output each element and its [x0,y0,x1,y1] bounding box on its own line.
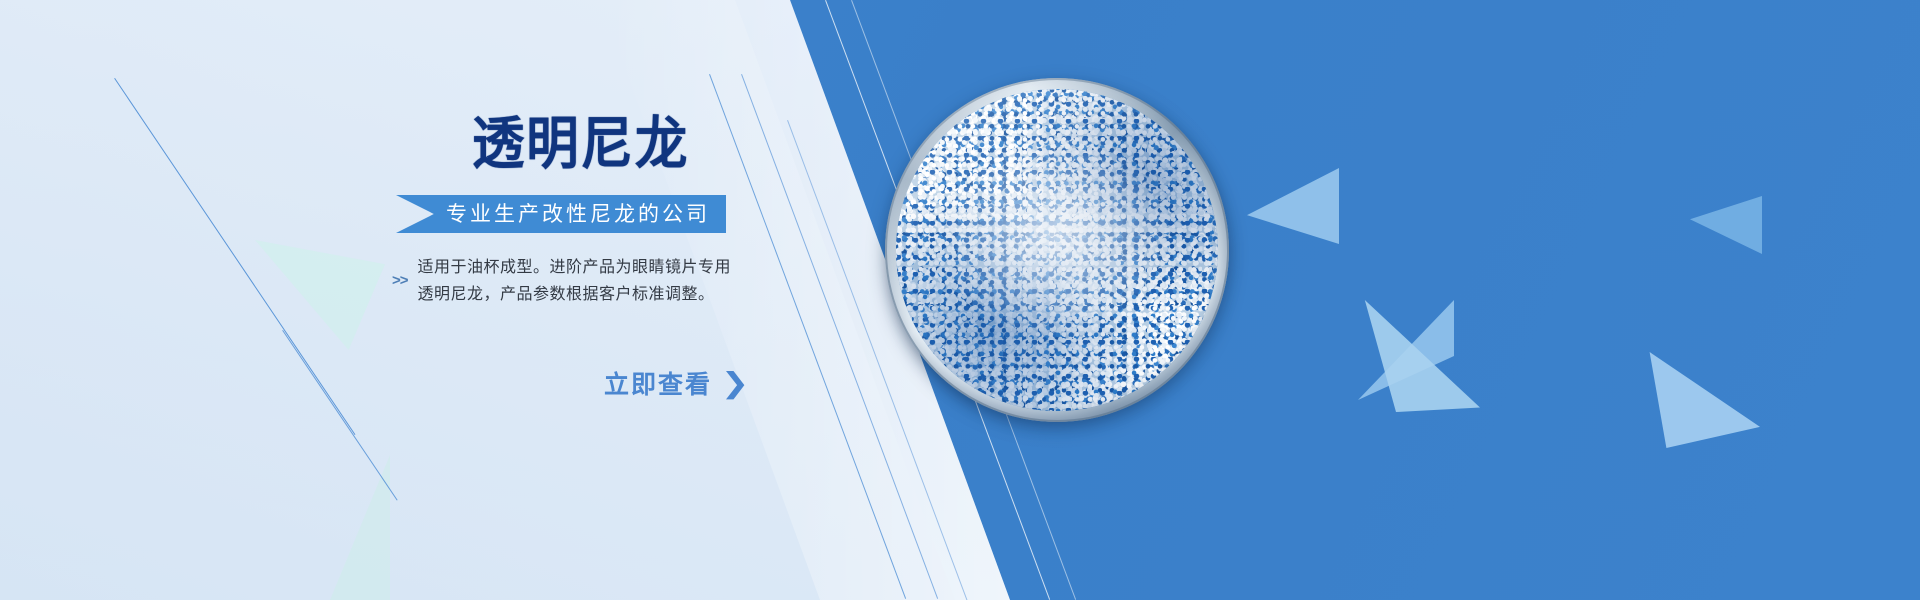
tagline-label: 专业生产改性尼龙的公司 [446,195,710,233]
page-title: 透明尼龙 [472,116,917,173]
description-line-1: 适用于油杯成型。进阶产品为眼睛镜片专用 [418,253,732,280]
view-now-label: 立即查看 [604,365,712,401]
description-line-2: 透明尼龙，产品参数根据客户标准调整。 [418,280,732,307]
hero-banner: 透明尼龙 专业生产改性尼龙的公司 >> 适用于油杯成型。进阶产品为眼睛镜片专用 … [0,0,1920,600]
view-now-button[interactable]: 立即查看 ❯ [604,365,749,401]
tagline-ribbon: 专业生产改性尼龙的公司 [396,195,726,233]
description-text: 适用于油杯成型。进阶产品为眼睛镜片专用 透明尼龙，产品参数根据客户标准调整。 [418,253,732,307]
description-block: >> 适用于油杯成型。进阶产品为眼睛镜片专用 透明尼龙，产品参数根据客户标准调整… [392,253,956,307]
chevron-right-icon: ❯ [721,369,752,397]
banner-copy: 透明尼龙 专业生产改性尼龙的公司 >> 适用于油杯成型。进阶产品为眼睛镜片专用 … [396,116,956,401]
double-chevron-icon: >> [392,272,408,289]
